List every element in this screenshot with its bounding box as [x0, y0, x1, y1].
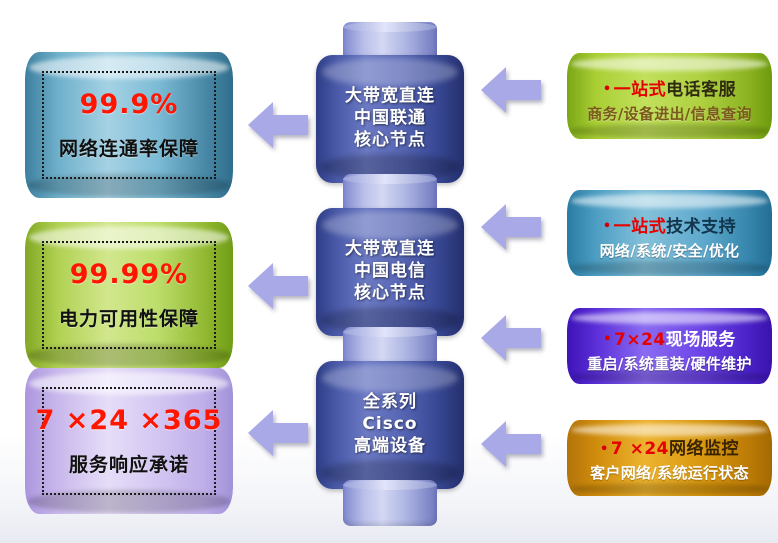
- right-card-phone-support: •一站式电话客服 商务/设备进出/信息查询: [567, 53, 772, 139]
- right-card-tech-support: •一站式技术支持 网络/系统/安全/优化: [567, 190, 772, 276]
- right-card-network-monitoring: •7 ×24网络监控 客户网络/系统运行状态: [567, 420, 772, 496]
- card-headline: •7×24现场服务: [603, 325, 736, 350]
- node-line-2: Cisco: [362, 414, 417, 436]
- left-arrow-icon: [480, 310, 542, 366]
- left-card-power-availability: 99.99% 电力可用性保障: [25, 222, 233, 368]
- arrow-left-middle: [247, 258, 309, 314]
- left-arrow-icon: [480, 62, 542, 118]
- center-node-unicom: 大带宽直连 中国联通 核心节点: [316, 55, 464, 183]
- headline-rest: 技术支持: [666, 217, 736, 237]
- metric-value: 99.99%: [70, 259, 188, 290]
- headline-rest: 网络监控: [669, 439, 739, 459]
- left-arrow-icon: [247, 405, 309, 461]
- headline-highlight: 7×24: [614, 330, 666, 350]
- node-line-3: 高端设备: [354, 436, 426, 458]
- card-headline: •一站式电话客服: [603, 75, 736, 100]
- metric-label: 电力可用性保障: [59, 304, 199, 331]
- connector-cap: [343, 22, 437, 32]
- center-node-label: 全系列 Cisco 高端设备: [316, 361, 464, 489]
- headline-rest: 电话客服: [666, 80, 736, 100]
- connector-cap: [343, 480, 437, 490]
- left-card-network-availability: 99.9% 网络连通率保障: [25, 52, 233, 198]
- node-line-3: 核心节点: [354, 130, 426, 152]
- arrow-left-top: [247, 97, 309, 153]
- card-inner-frame: 99.9% 网络连通率保障: [42, 71, 216, 179]
- metric-value: 7 ×24 ×365: [36, 405, 223, 436]
- center-node-telecom: 大带宽直连 中国电信 核心节点: [316, 208, 464, 336]
- metric-label: 网络连通率保障: [59, 134, 199, 161]
- card-detail: 重启/系统重装/硬件维护: [570, 355, 770, 374]
- card-inner-frame: 7 ×24 ×365 服务响应承诺: [42, 387, 216, 495]
- node-line-1: 全系列: [363, 392, 417, 414]
- node-line-2: 中国电信: [354, 261, 426, 283]
- headline-highlight: 7 ×24: [611, 439, 669, 459]
- bullet-icon: •: [600, 442, 609, 457]
- headline-highlight: 一站式: [614, 217, 667, 237]
- card-headline: •7 ×24网络监控: [600, 434, 739, 459]
- card-text: •7 ×24网络监控 客户网络/系统运行状态: [567, 420, 772, 496]
- left-arrow-icon: [247, 97, 309, 153]
- card-detail: 客户网络/系统运行状态: [582, 464, 757, 483]
- metric-label: 服务响应承诺: [69, 450, 189, 477]
- center-node-label: 大带宽直连 中国电信 核心节点: [316, 208, 464, 336]
- left-arrow-icon: [480, 416, 542, 472]
- arrow-left-bottom: [247, 405, 309, 461]
- bullet-icon: •: [603, 332, 612, 347]
- center-node-cisco: 全系列 Cisco 高端设备: [316, 361, 464, 489]
- bullet-icon: •: [603, 82, 612, 97]
- headline-highlight: 一站式: [614, 80, 667, 100]
- card-detail: 网络/系统/安全/优化: [570, 242, 770, 261]
- center-node-label: 大带宽直连 中国联通 核心节点: [316, 55, 464, 183]
- headline-rest: 现场服务: [666, 330, 736, 350]
- metric-value: 99.9%: [80, 89, 179, 120]
- arrow-right-four: [480, 416, 542, 472]
- left-card-response-commitment: 7 ×24 ×365 服务响应承诺: [25, 368, 233, 514]
- node-line-2: 中国联通: [354, 108, 426, 130]
- bullet-icon: •: [603, 219, 612, 234]
- diagram-canvas: 99.9% 网络连通率保障 99.99% 电力可用性保障 7 ×24 ×365 …: [0, 0, 778, 543]
- arrow-right-three: [480, 310, 542, 366]
- connector-cap: [343, 327, 437, 337]
- arrow-right-one: [480, 62, 542, 118]
- arrow-right-two: [480, 199, 542, 255]
- card-text: •一站式技术支持 网络/系统/安全/优化: [567, 190, 772, 276]
- connector-cap: [343, 174, 437, 184]
- card-detail: 商务/设备进出/信息查询: [570, 105, 770, 124]
- right-card-onsite-service: •7×24现场服务 重启/系统重装/硬件维护: [567, 308, 772, 384]
- card-headline: •一站式技术支持: [603, 212, 736, 237]
- node-line-3: 核心节点: [354, 283, 426, 305]
- left-arrow-icon: [247, 258, 309, 314]
- node-line-1: 大带宽直连: [345, 239, 435, 261]
- center-stack: 大带宽直连 中国联通 核心节点 大带宽直连 中国电信 核心节点 全系列: [316, 22, 464, 534]
- card-inner-frame: 99.99% 电力可用性保障: [42, 241, 216, 349]
- card-text: •7×24现场服务 重启/系统重装/硬件维护: [567, 308, 772, 384]
- left-arrow-icon: [480, 199, 542, 255]
- card-text: •一站式电话客服 商务/设备进出/信息查询: [567, 53, 772, 139]
- node-line-1: 大带宽直连: [345, 86, 435, 108]
- stack-connector-bottom: [343, 480, 437, 526]
